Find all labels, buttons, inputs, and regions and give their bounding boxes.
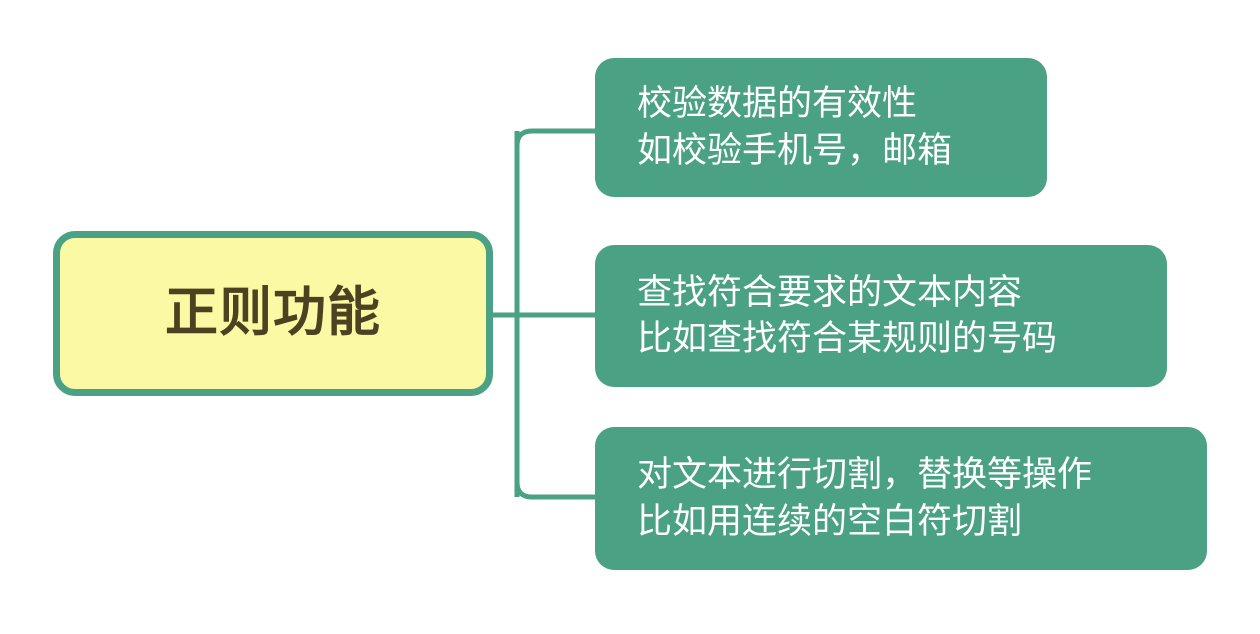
branch-node-line: 查找符合要求的文本内容 (637, 270, 1141, 316)
branch-node-split-replace[interactable]: 对文本进行切割，替换等操作 比如用连续的空白符切割 (595, 427, 1207, 570)
branch-node-line: 对文本进行切割，替换等操作 (637, 452, 1181, 498)
root-node[interactable]: 正则功能 (53, 231, 493, 396)
connector-branch-1 (517, 131, 597, 146)
root-node-label: 正则功能 (165, 284, 381, 342)
branch-node-line: 如校验手机号，邮箱 (637, 128, 1021, 174)
mindmap-canvas: 正则功能 校验数据的有效性 如校验手机号，邮箱 查找符合要求的文本内容 比如查找… (0, 0, 1260, 634)
branch-node-line: 比如用连续的空白符切割 (637, 499, 1181, 545)
branch-node-search[interactable]: 查找符合要求的文本内容 比如查找符合某规则的号码 (595, 245, 1167, 387)
branch-node-validate[interactable]: 校验数据的有效性 如校验手机号，邮箱 (595, 58, 1047, 197)
connector-branch-3 (517, 482, 597, 497)
branch-node-line: 校验数据的有效性 (637, 81, 1021, 127)
branch-node-line: 比如查找符合某规则的号码 (637, 316, 1141, 362)
